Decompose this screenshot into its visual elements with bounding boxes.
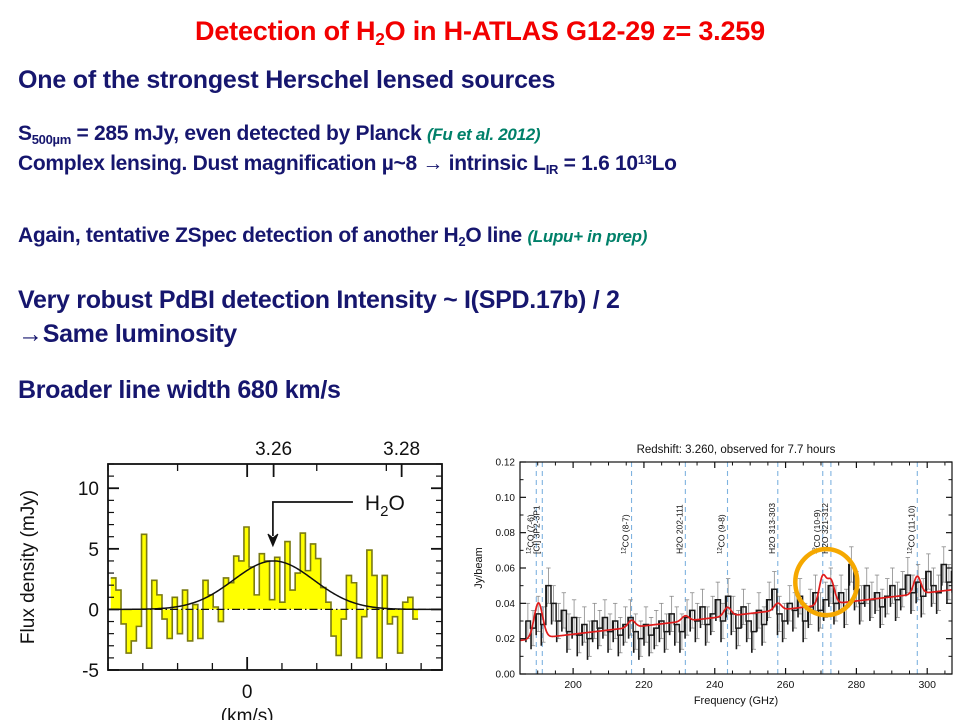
zspec-xtick-label: 200: [564, 679, 582, 691]
lir-exponent: 13: [638, 152, 652, 167]
bullet-line-1-text: One of the strongest Herschel lensed sou…: [18, 66, 555, 94]
zspec-ytick-label: 0.04: [496, 599, 516, 610]
pdbi-annotation-post: O: [388, 492, 404, 515]
slide-root: Detection of H2O in H-ATLAS G12-29 z= 3.…: [0, 0, 960, 720]
bullet-line-7: Broader line width 680 km/s: [18, 376, 341, 405]
zspec-xtick-label: 280: [848, 679, 866, 691]
pdbi-detection-text: Very robust PdBI detection Intensity ~ I…: [18, 286, 620, 314]
pdbi-ytick-label: 0: [88, 600, 99, 621]
pdbi-annotation-label: H2O: [365, 492, 405, 520]
line-width-text: Broader line width 680 km/s: [18, 376, 341, 404]
zspec-text-post: O line: [465, 224, 527, 247]
zspec-ytick-label: 0.02: [496, 634, 516, 645]
zspec-data-histogram: [525, 561, 960, 639]
zspec-line-marker-label: [CI] 3P2-3P1: [531, 505, 541, 554]
zspec-xtick-label: 220: [635, 679, 653, 691]
zspec-label-main: CO (8-7): [621, 514, 631, 547]
zspec-line-marker-label: H2O 321-312: [820, 503, 830, 554]
bullet-line-5: Very robust PdBI detection Intensity ~ I…: [18, 286, 620, 315]
pdbi-annotation-subscript: 2: [380, 503, 388, 520]
zspec-label-main: CO (9-8): [717, 514, 727, 547]
bullet-line-2: S500µm = 285 mJy, even detected by Planc…: [18, 122, 540, 147]
title-post: O in H-ATLAS G12-29 z= 3.259: [385, 16, 765, 46]
flux-wavelength-subscript: 500µm: [32, 132, 71, 147]
zspec-line-marker-label: 12CO (11-10): [906, 505, 916, 554]
zspec-line-marker-label: 12CO (9-8): [717, 514, 727, 554]
zspec-xtick-label: 260: [777, 679, 795, 691]
pdbi-annotation-arrow-line: [273, 502, 353, 536]
zspec-line-marker-label: H2O 202-111: [674, 504, 684, 554]
zspec-label-main: CO (11-10): [906, 505, 916, 547]
pdbi-ytick-label: 5: [88, 540, 99, 561]
page-title: Detection of H2O in H-ATLAS G12-29 z= 3.…: [0, 16, 960, 50]
pdbi-top-tick-label: 3.28: [383, 439, 420, 460]
zspec-ytick-label: 0.06: [496, 564, 516, 575]
pdbi-xtick-label: 0: [242, 682, 253, 703]
pdbi-plot-area: -505100(km/s)3.263.28Flux density (mJy)H…: [18, 439, 442, 720]
zspec-title: Redshift: 3.260, observed for 7.7 hours: [637, 444, 836, 456]
title-subscript: 2: [375, 29, 384, 49]
zspec-line-marker-label: H2O 313-303: [767, 503, 777, 554]
pdbi-spectrum-svg: -505100(km/s)3.263.28Flux density (mJy)H…: [0, 424, 455, 720]
pdbi-xaxis-label: (km/s): [221, 706, 274, 720]
zspec-ytick-label: 0.08: [496, 528, 516, 539]
bullet-line-6: →Same luminosity: [18, 320, 237, 349]
zspec-text-pre: Again, tentative ZSpec detection of anot…: [18, 224, 458, 247]
zspec-plot-area: Redshift: 3.260, observed for 7.7 hours1…: [473, 444, 960, 707]
pdbi-spectrum-figure: -505100(km/s)3.263.28Flux density (mJy)H…: [0, 424, 455, 720]
zspec-spectrum-svg: Redshift: 3.260, observed for 7.7 hours1…: [466, 436, 960, 720]
lir-subscript: IR: [546, 162, 558, 177]
zspec-xaxis-label: Frequency (GHz): [694, 695, 778, 707]
title-pre: Detection of H: [195, 16, 375, 46]
same-luminosity-text: →Same luminosity: [18, 320, 237, 348]
zspec-data-group: [520, 462, 960, 674]
citation-lupu-in-prep: (Lupu+ in prep): [527, 227, 647, 246]
pdbi-histogram: [108, 527, 442, 658]
zspec-spectrum-figure: Redshift: 3.260, observed for 7.7 hours1…: [466, 436, 960, 720]
lir-value-mid: = 1.6 10: [558, 152, 638, 175]
pdbi-ytick-label: 10: [78, 479, 99, 500]
flux-symbol: S: [18, 122, 32, 145]
citation-fu-2012: (Fu et al. 2012): [427, 125, 540, 144]
zspec-xtick-label: 300: [918, 679, 936, 691]
zspec-line-marker-label: 12CO (8-7): [621, 514, 631, 554]
pdbi-ytick-label: -5: [82, 661, 99, 682]
zspec-xtick-label: 240: [706, 679, 724, 691]
bullet-line-4: Again, tentative ZSpec detection of anot…: [18, 224, 647, 249]
lensing-text-pre: Complex lensing. Dust magnification µ~8 …: [18, 152, 546, 175]
pdbi-top-tick-label: 3.26: [255, 439, 292, 460]
zspec-ytick-label: 0.10: [496, 493, 516, 504]
zspec-yaxis-label: Jy/beam: [473, 547, 485, 589]
lir-units: Lo: [652, 152, 677, 175]
zspec-ytick-label: 0.12: [496, 458, 516, 469]
zspec-ytick-label: 0.00: [496, 670, 516, 681]
bullet-line-1: One of the strongest Herschel lensed sou…: [18, 66, 555, 95]
flux-value-text: = 285 mJy, even detected by Planck: [71, 122, 427, 145]
pdbi-yaxis-label: Flux density (mJy): [18, 490, 39, 644]
bullet-line-3: Complex lensing. Dust magnification µ~8 …: [18, 152, 677, 177]
